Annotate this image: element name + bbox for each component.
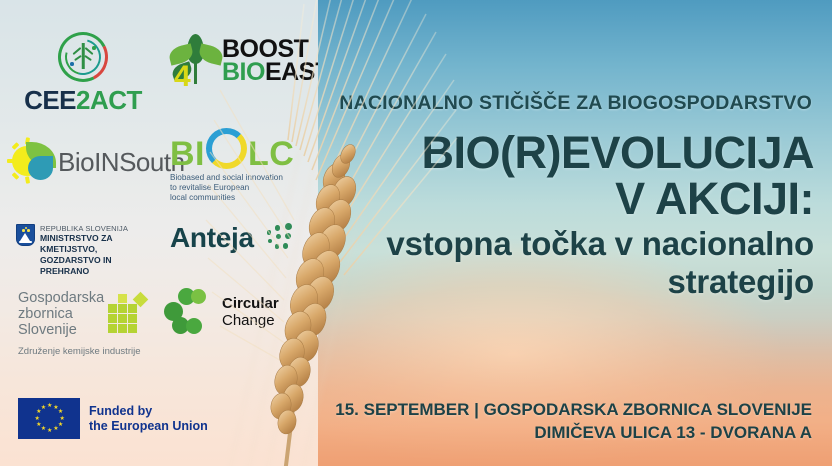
event-hero-panel: NACIONALNO STIČIŠČE ZA BIOGOSPODARSTVO B… xyxy=(318,0,832,466)
logo-circular-change: Circular Change xyxy=(164,288,318,336)
logo-gzs: Gospodarska zbornica Slovenije xyxy=(18,290,163,357)
eu-star-icon: ★ xyxy=(41,406,45,410)
headline-line-4: strategijo xyxy=(324,265,814,299)
leaves-icon: 4 xyxy=(168,32,222,90)
logo-ministry: REPUBLIKA SLOVENIJA MINISTRSTVO ZA KMETI… xyxy=(16,224,156,277)
eu-star-icon: ★ xyxy=(36,423,40,427)
event-poster: CEE2ACT 4 BOOST BIOEAST xyxy=(0,0,832,466)
logo-gzs-subtitle: Združenje kemijske industrije xyxy=(18,346,163,357)
eu-star-icon: ★ xyxy=(53,427,57,431)
logo-anteja: Anteja xyxy=(170,222,295,254)
eu-star-icon: ★ xyxy=(60,417,64,421)
headline-line-1: BIO(R)EVOLUCIJA xyxy=(324,130,814,176)
logo-boost4bioeast-text: BOOST BIOEAST xyxy=(222,38,318,84)
dot-arc-icon xyxy=(261,222,295,254)
logo-cee2act-text: CEE2ACT xyxy=(18,87,148,113)
logo-eu-funding: ★★★★★★★★★★★★ Funded by the European Unio… xyxy=(18,398,208,439)
logo-bioinsouth: BioINSouth xyxy=(12,140,185,184)
logo-bioloc-subtitle: Biobased and social innovation to revita… xyxy=(170,173,305,203)
logo-boost4bioeast: 4 BOOST BIOEAST xyxy=(168,32,318,90)
circular-plant-icon xyxy=(56,30,110,84)
event-headline: BIO(R)EVOLUCIJA V AKCIJI: vstopna točka … xyxy=(324,130,814,299)
eu-flag-icon: ★★★★★★★★★★★★ xyxy=(18,398,80,439)
eu-star-icon: ★ xyxy=(36,410,40,414)
logo-bioloc-text: BILC xyxy=(170,128,305,170)
logo-cee2act: CEE2ACT xyxy=(18,30,148,113)
eu-star-icon: ★ xyxy=(35,417,39,421)
eu-star-icon: ★ xyxy=(47,404,51,408)
sponsors-panel: CEE2ACT 4 BOOST BIOEAST xyxy=(0,0,318,466)
logo-gzs-text: Gospodarska zbornica Slovenije xyxy=(18,290,104,339)
eu-star-icon: ★ xyxy=(47,429,51,433)
logo-circular-change-text: Circular Change xyxy=(222,295,318,329)
eu-star-icon: ★ xyxy=(41,427,45,431)
logo-bioinsouth-text: BioINSouth xyxy=(58,147,185,178)
logo-eu-funding-text: Funded by the European Union xyxy=(89,404,208,434)
event-kicker: NACIONALNO STIČIŠČE ZA BIOGOSPODARSTVO xyxy=(332,92,812,115)
headline-line-2: V AKCIJI: xyxy=(324,176,814,222)
slovenia-coat-of-arms-icon xyxy=(16,224,35,246)
sun-leaf-icon xyxy=(12,140,58,184)
headline-line-3: vstopna točka v nacionalno xyxy=(324,227,814,261)
logo-ministry-text: REPUBLIKA SLOVENIJA MINISTRSTVO ZA KMETI… xyxy=(40,224,156,277)
logo-bioloc: BILC Biobased and social innovation to r… xyxy=(170,128,305,203)
ring-o-icon xyxy=(206,128,247,169)
circle-cluster-icon xyxy=(164,288,214,336)
logo-anteja-text: Anteja xyxy=(170,222,254,254)
eu-star-icon: ★ xyxy=(58,410,62,414)
event-details: 15. SEPTEMBER | GOSPODARSKA ZBORNICA SLO… xyxy=(322,399,812,444)
green-squares-icon xyxy=(108,294,148,334)
eu-star-icon: ★ xyxy=(53,406,57,410)
event-address: DIMIČEVA ULICA 13 - DVORANA A xyxy=(322,422,812,444)
event-date-venue: 15. SEPTEMBER | GOSPODARSKA ZBORNICA SLO… xyxy=(322,399,812,421)
